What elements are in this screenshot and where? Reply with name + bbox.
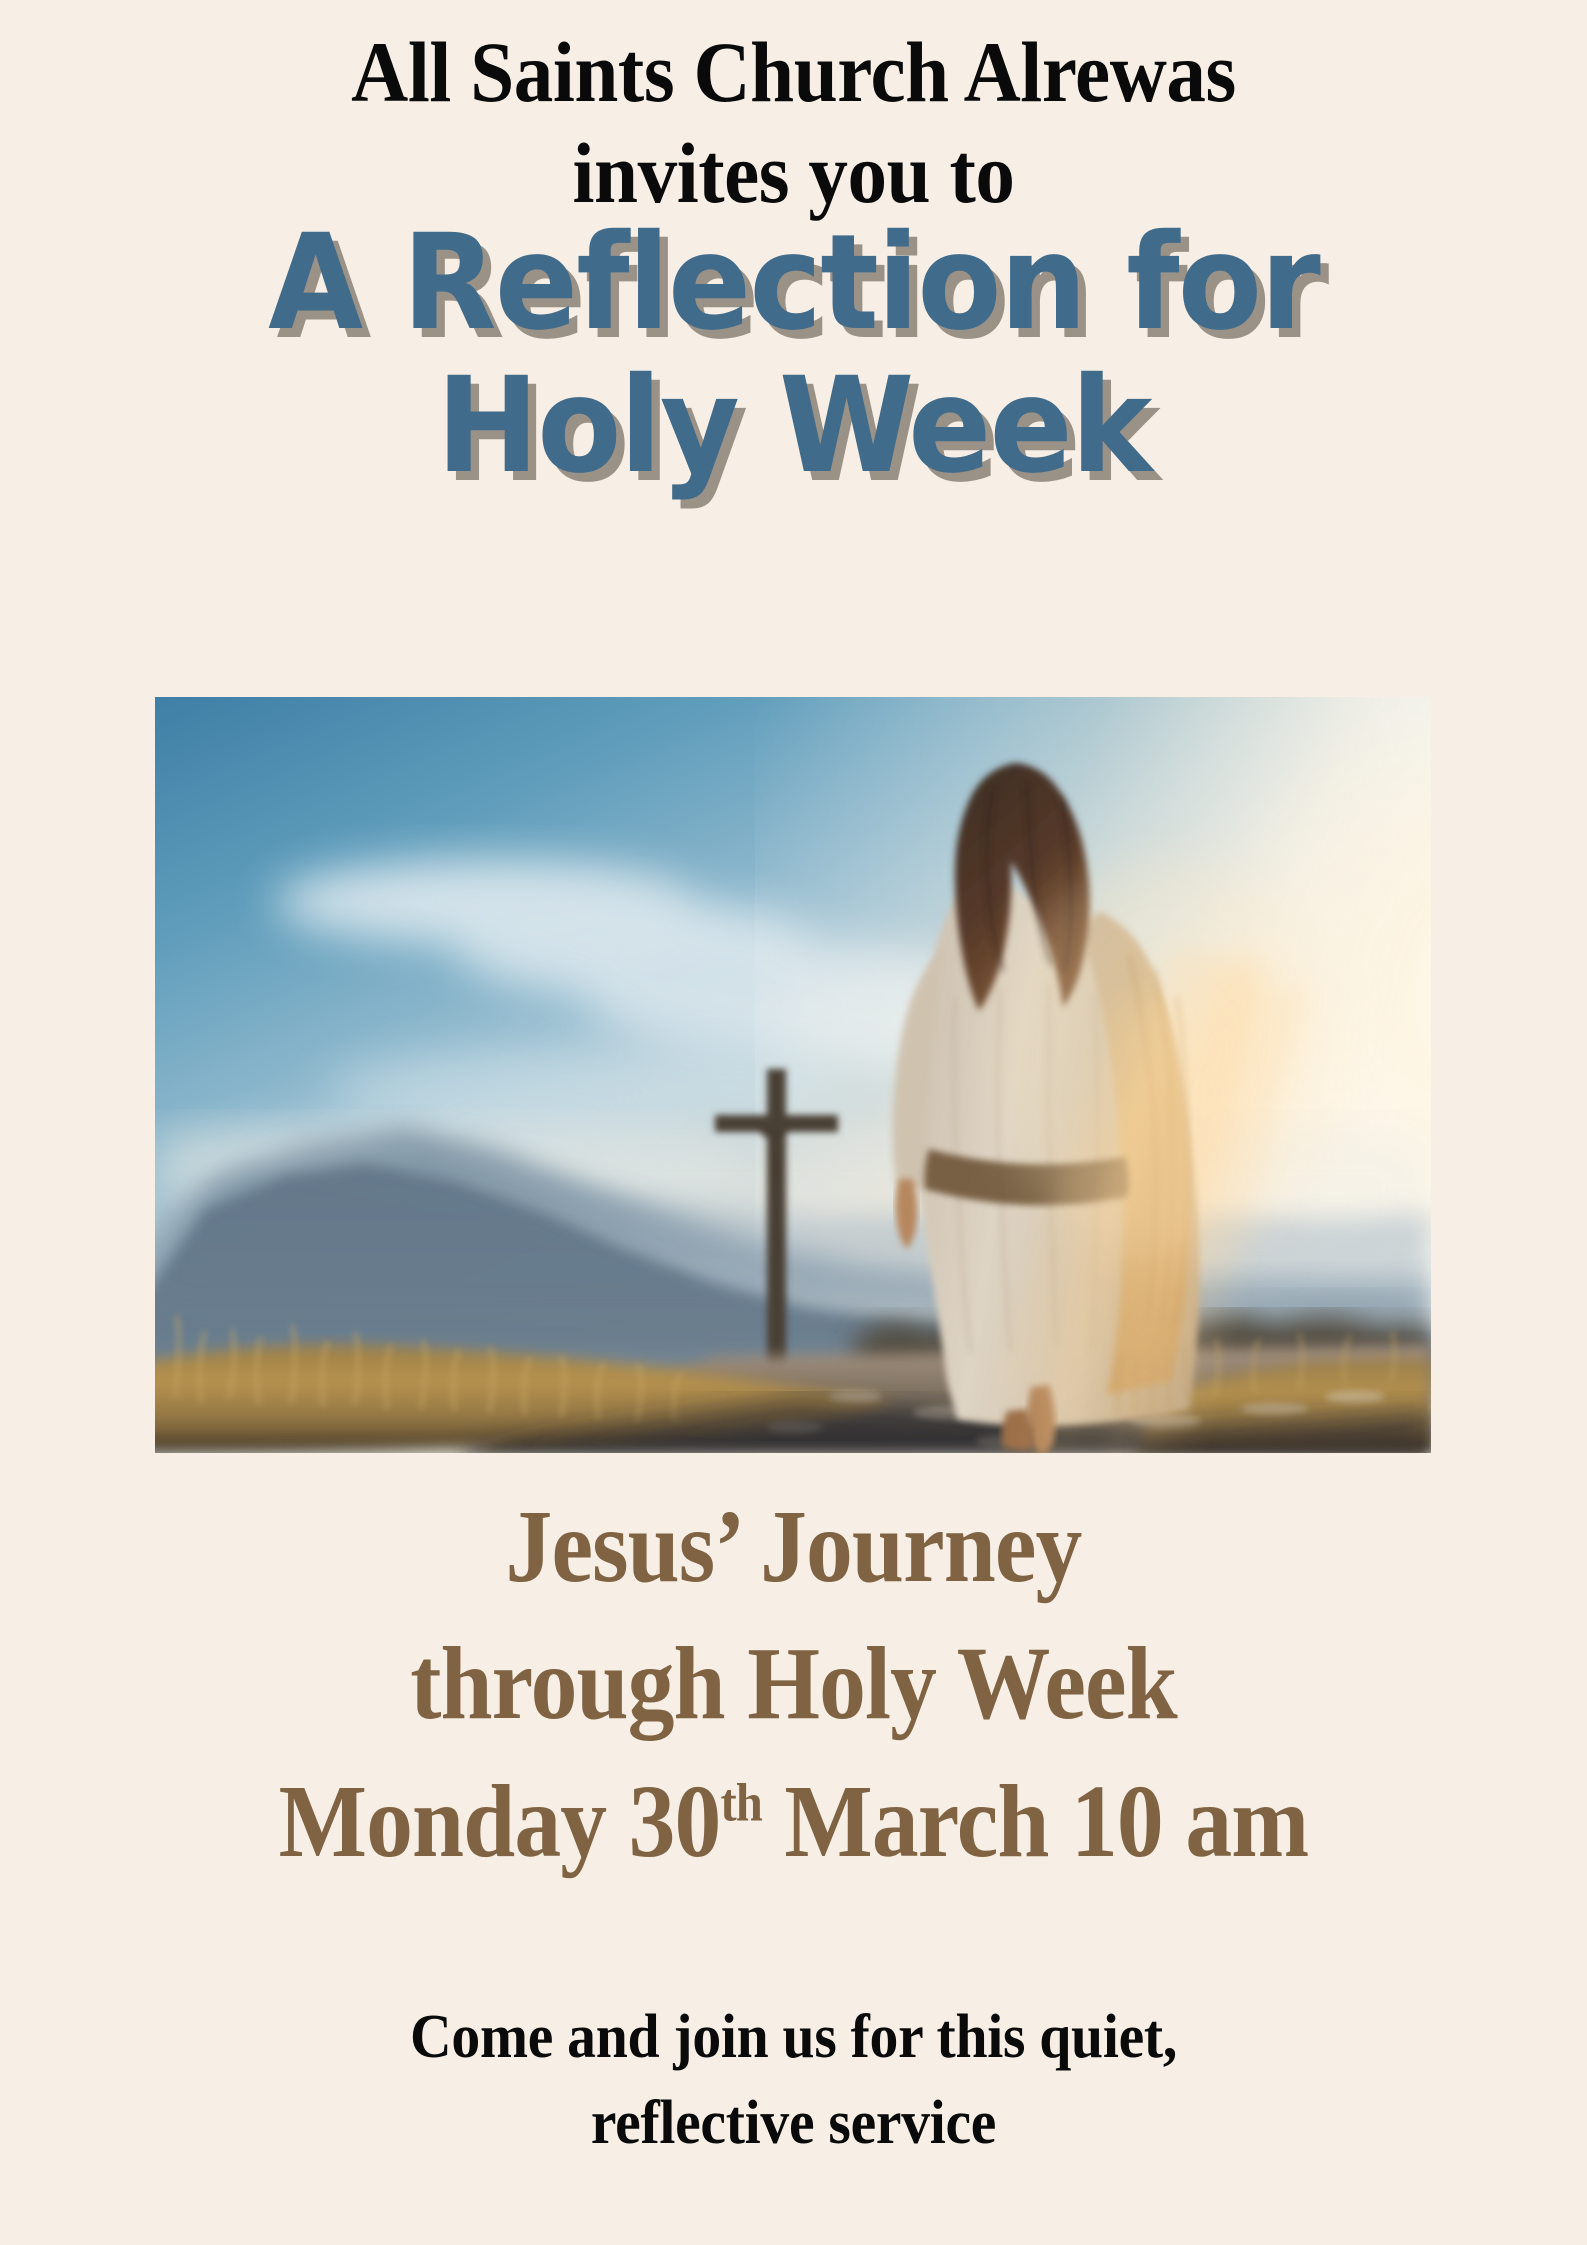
event-date-ordinal: th [720,1772,761,1832]
main-title-block: A Reflection for Holy Week [0,212,1587,497]
header-line-church: All Saints Church Alrewas [63,22,1523,123]
holy-week-photo [155,697,1431,1453]
event-date-prefix: Monday 30 [279,1764,721,1879]
footer-line-1: Come and join us for this quiet, [56,1995,1532,2081]
photo-illustration [155,697,1431,1453]
event-line-through: through Holy Week [79,1615,1507,1752]
header-block: All Saints Church Alrewas invites you to [0,22,1587,225]
main-title-line-2: Holy Week [56,355,1532,498]
lens-flare [995,857,1335,1257]
poster-root: All Saints Church Alrewas invites you to… [0,0,1587,2245]
event-date-suffix: March 10 am [762,1764,1308,1879]
event-line-datetime: Monday 30th March 10 am [79,1753,1507,1890]
event-details-block: Jesus’ Journey through Holy Week Monday … [0,1478,1587,1890]
main-title-line-1: A Reflection for [56,212,1532,355]
footer-block: Come and join us for this quiet, reflect… [0,1995,1587,2166]
footer-line-2: reflective service [56,2081,1532,2167]
event-line-journey: Jesus’ Journey [79,1478,1507,1615]
